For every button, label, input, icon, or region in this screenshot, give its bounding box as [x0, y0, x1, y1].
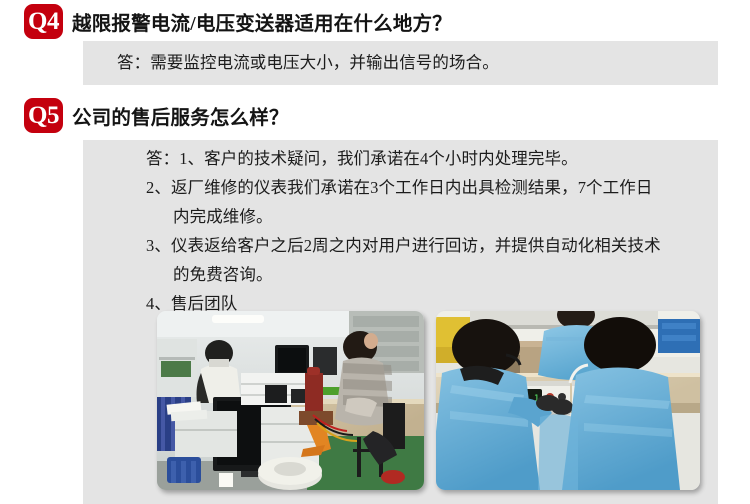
- question-badge-q5: Q5: [24, 98, 63, 133]
- answer-panel-q4: 答：需要监控电流或电压大小，并输出信号的场合。: [83, 41, 718, 85]
- question-title-q4: 越限报警电流/电压变送器适用在什么地方？: [72, 7, 452, 36]
- faq-page: Q4 越限报警电流/电压变送器适用在什么地方？ 答：需要监控电流或电压大小，并输…: [0, 0, 750, 504]
- after-sales-team-testing-photo: 0000.1: [436, 311, 700, 490]
- answer-line: 答：1、客户的技术疑问，我们承诺在4个小时内处理完毕。: [146, 151, 578, 168]
- after-sales-team-workshop-photo: [157, 311, 424, 490]
- question-badge-q4: Q4: [24, 4, 63, 39]
- question-title-q5: 公司的售后服务怎么样？: [72, 101, 289, 130]
- answer-line: 3、仪表返给客户之后2周之内对用户进行回访，并提供自动化相关技术: [146, 238, 661, 255]
- answer-line: 答：需要监控电流或电压大小，并输出信号的场合。: [117, 55, 499, 72]
- question-row-q5: Q5 公司的售后服务怎么样？: [24, 98, 289, 133]
- answer-panel-q5: 答：1、客户的技术疑问，我们承诺在4个小时内处理完毕。 2、返厂维修的仪表我们承…: [83, 140, 718, 504]
- answer-line: 内完成维修。: [173, 209, 273, 226]
- answer-line: 2、返厂维修的仪表我们承诺在3个工作日内出具检测结果，7个工作日: [146, 180, 652, 197]
- question-row-q4: Q4 越限报警电流/电压变送器适用在什么地方？: [24, 4, 452, 39]
- answer-line: 的免费咨询。: [173, 267, 273, 284]
